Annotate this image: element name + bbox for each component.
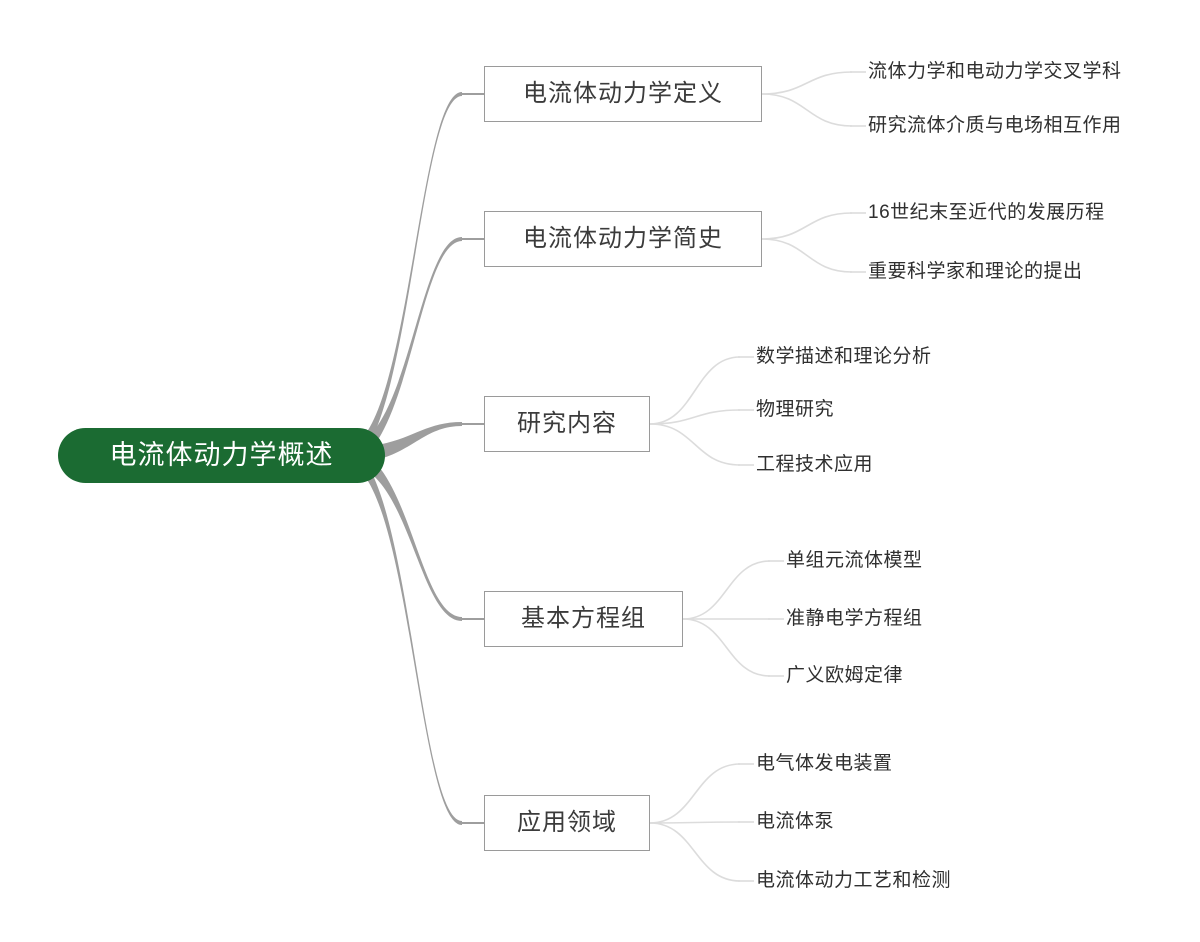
leaf-connector <box>650 822 740 823</box>
leaf-node-label: 工程技术应用 <box>756 454 873 475</box>
leaf-node-5-2[interactable]: 电流体泵 <box>756 812 834 832</box>
leaf-connector <box>650 357 740 424</box>
mind-map-canvas: 电流体动力学概述 电流体动力学定义电流体动力学简史研究内容基本方程组应用领域 流… <box>0 0 1200 942</box>
leaf-node-3-2[interactable]: 物理研究 <box>756 400 834 420</box>
leaf-node-4-1[interactable]: 单组元流体模型 <box>786 551 923 571</box>
branch-node-label: 电流体动力学简史 <box>523 227 723 251</box>
leaf-node-label: 广义欧姆定律 <box>786 665 903 686</box>
leaf-connector <box>683 561 770 619</box>
leaf-node-label: 16世纪末至近代的发展历程 <box>868 202 1105 223</box>
leaf-node-1-1[interactable]: 流体力学和电动力学交叉学科 <box>868 62 1122 82</box>
branch-node-4[interactable]: 基本方程组 <box>484 591 683 647</box>
branch-connector <box>345 92 462 464</box>
root-node[interactable]: 电流体动力学概述 <box>58 428 385 483</box>
leaf-node-label: 单组元流体模型 <box>786 550 923 571</box>
leaf-node-label: 流体力学和电动力学交叉学科 <box>868 61 1122 82</box>
leaf-node-5-3[interactable]: 电流体动力工艺和检测 <box>756 871 951 891</box>
leaf-node-label: 电流体动力工艺和检测 <box>756 870 951 891</box>
branch-node-label: 研究内容 <box>517 412 617 436</box>
leaf-connector <box>650 424 740 465</box>
leaf-connector <box>762 213 852 239</box>
leaf-node-label: 电气体发电装置 <box>756 753 893 774</box>
leaf-connector <box>650 764 740 823</box>
leaf-node-label: 研究流体介质与电场相互作用 <box>868 115 1122 136</box>
leaf-node-3-3[interactable]: 工程技术应用 <box>756 455 873 475</box>
leaf-node-label: 重要科学家和理论的提出 <box>868 261 1083 282</box>
branch-node-1[interactable]: 电流体动力学定义 <box>484 66 762 122</box>
leaf-node-label: 电流体泵 <box>756 811 834 832</box>
leaf-node-3-1[interactable]: 数学描述和理论分析 <box>756 347 932 367</box>
leaf-node-5-1[interactable]: 电气体发电装置 <box>756 754 893 774</box>
leaf-node-label: 数学描述和理论分析 <box>756 346 932 367</box>
branch-node-label: 电流体动力学定义 <box>523 82 723 106</box>
leaf-node-4-3[interactable]: 广义欧姆定律 <box>786 666 903 686</box>
leaf-connector <box>650 823 740 881</box>
branch-node-2[interactable]: 电流体动力学简史 <box>484 211 762 267</box>
branch-node-3[interactable]: 研究内容 <box>484 396 650 452</box>
leaf-connector <box>762 239 852 272</box>
branch-node-5[interactable]: 应用领域 <box>484 795 650 851</box>
leaf-node-2-1[interactable]: 16世纪末至近代的发展历程 <box>868 203 1105 223</box>
leaf-node-1-2[interactable]: 研究流体介质与电场相互作用 <box>868 116 1122 136</box>
leaf-node-2-2[interactable]: 重要科学家和理论的提出 <box>868 262 1083 282</box>
leaf-connector <box>683 619 770 676</box>
leaf-node-4-2[interactable]: 准静电学方程组 <box>786 609 923 629</box>
leaf-connector <box>762 94 852 126</box>
branch-node-label: 应用领域 <box>517 811 617 835</box>
leaf-connector <box>762 72 852 94</box>
leaf-node-label: 准静电学方程组 <box>786 608 923 629</box>
branch-connector <box>345 448 462 826</box>
root-node-label: 电流体动力学概述 <box>110 442 334 469</box>
branch-node-label: 基本方程组 <box>521 607 646 631</box>
leaf-node-label: 物理研究 <box>756 399 834 420</box>
